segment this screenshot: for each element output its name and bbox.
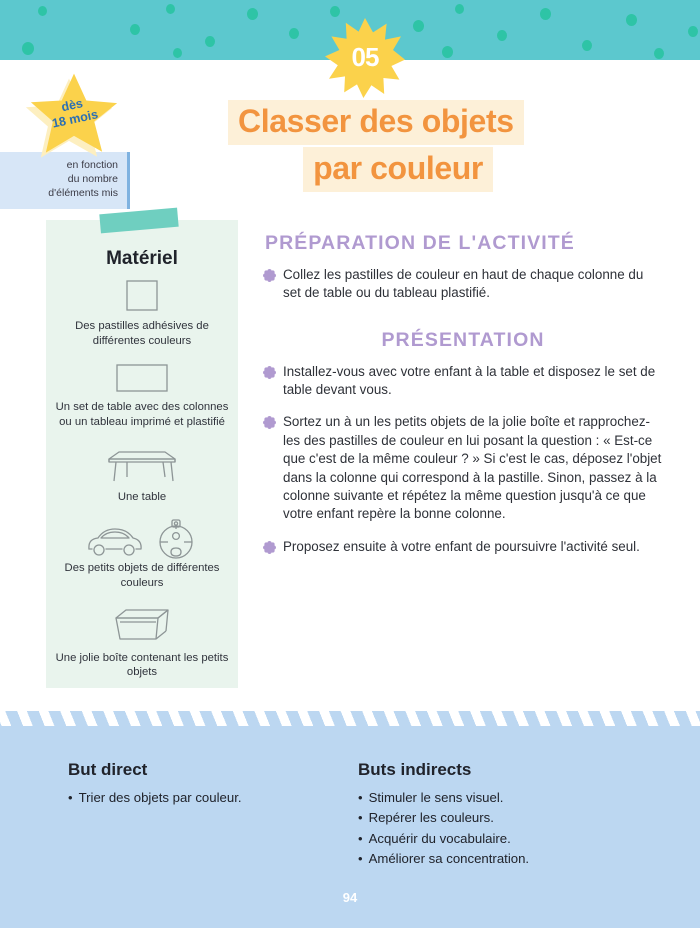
presentation-heading: PRÉSENTATION — [263, 329, 663, 352]
age-badge-line2: 18 mois — [51, 107, 99, 130]
activity-page: 05 dès 18 mois en fonction du nombre d'é… — [0, 0, 700, 928]
decorative-dot — [289, 28, 299, 39]
activity-content: PRÉPARATION DE L'ACTIVITÉ Collez les pas… — [263, 232, 663, 570]
toy-car-and-ball-icon — [84, 517, 200, 561]
age-badge-star: dès 18 mois — [30, 72, 118, 156]
goals-section: But direct • Trier des objets par couleu… — [0, 732, 700, 928]
direct-goal-item: • Trier des objets par couleur. — [68, 788, 358, 808]
presentation-item-text: Proposez ensuite à votre enfant de pours… — [283, 538, 640, 556]
indirect-goal-item: • Acquérir du vocabulaire. — [358, 829, 658, 849]
activity-number: 05 — [325, 18, 405, 98]
material-item-label: Des pastilles adhésives de différentes c… — [46, 319, 238, 348]
page-title: Classer des objets par couleur — [228, 100, 568, 192]
title-line-2-wrap: par couleur — [228, 147, 568, 192]
indirect-goal-heading: Buts indirects — [358, 760, 658, 780]
flower-bullet-icon — [263, 366, 276, 379]
indirect-goal-item: • Repérer les couleurs. — [358, 808, 658, 828]
decorative-dot — [442, 46, 453, 58]
bullet-dot: • — [358, 808, 363, 828]
bullet-dot: • — [358, 788, 363, 808]
decorative-dot — [497, 30, 507, 41]
presentation-item: Sortez un à un les petits objets de la j… — [263, 413, 663, 523]
material-item-label: Une jolie boîte contenant les petits obj… — [46, 651, 238, 680]
decorative-dot — [330, 6, 340, 17]
material-item-label: Un set de table avec des colonnes ou un … — [46, 400, 238, 429]
indirect-goal-text: Stimuler le sens visuel. — [369, 788, 504, 808]
goals-columns: But direct • Trier des objets par couleu… — [0, 760, 700, 870]
age-condition-note: en fonction du nombre d'éléments mis — [0, 152, 130, 209]
age-badge-text: dès 18 mois — [22, 64, 126, 164]
presentation-item-text: Installez-vous avec votre enfant à la ta… — [283, 363, 663, 400]
flower-bullet-icon — [263, 416, 276, 429]
toy-car-icon — [84, 521, 146, 561]
flower-bullet-icon — [263, 541, 276, 554]
presentation-item: Proposez ensuite à votre enfant de pours… — [263, 538, 663, 556]
material-item-label: Une table — [110, 490, 174, 505]
placemat-icon — [111, 361, 173, 395]
table-icon — [103, 443, 181, 485]
indirect-goal-column: Buts indirects • Stimuler le sens visuel… — [358, 760, 658, 870]
material-list: Des pastilles adhésives de différentes c… — [46, 278, 238, 693]
direct-goal-heading: But direct — [68, 760, 358, 780]
bullet-dot: • — [358, 829, 363, 849]
indirect-goal-text: Repérer les couleurs. — [369, 808, 494, 828]
decorative-dot — [582, 40, 592, 51]
box-icon — [106, 604, 178, 646]
preparation-item-text: Collez les pastilles de couleur en haut … — [283, 266, 663, 303]
decorative-dot — [173, 48, 182, 58]
decorative-dot — [413, 20, 424, 32]
striped-divider — [0, 706, 700, 736]
indirect-goal-item: • Stimuler le sens visuel. — [358, 788, 658, 808]
material-heading: Matériel — [46, 248, 238, 270]
square-sticker-icon — [119, 278, 165, 314]
material-item: Des petits objets de différentes couleur… — [46, 517, 238, 590]
bullet-dot: • — [68, 788, 73, 808]
material-item: Un set de table avec des colonnes ou un … — [46, 361, 238, 429]
stripe-top-fill — [0, 706, 700, 711]
presentation-item-text: Sortez un à un les petits objets de la j… — [283, 413, 663, 523]
activity-number-starburst: 05 — [325, 18, 405, 98]
preparation-item: Collez les pastilles de couleur en haut … — [263, 266, 663, 303]
title-line-1-wrap: Classer des objets — [228, 100, 568, 145]
decorative-dot — [247, 8, 258, 20]
material-item-label: Des petits objets de différentes couleur… — [46, 561, 238, 590]
direct-goal-column: But direct • Trier des objets par couleu… — [68, 760, 358, 870]
decorative-dot — [688, 26, 698, 37]
indirect-goal-text: Acquérir du vocabulaire. — [369, 829, 511, 849]
decorative-dot — [626, 14, 637, 26]
title-line-1: Classer des objets — [228, 100, 524, 145]
note-line-2: du nombre — [8, 173, 118, 187]
decorative-dot — [130, 24, 140, 35]
preparation-heading: PRÉPARATION DE L'ACTIVITÉ — [265, 232, 663, 255]
note-line-3: d'éléments mis — [8, 187, 118, 201]
indirect-goal-text: Améliorer sa concentration. — [369, 849, 530, 869]
indirect-goal-item: • Améliorer sa concentration. — [358, 849, 658, 869]
presentation-item: Installez-vous avec votre enfant à la ta… — [263, 363, 663, 400]
decorative-dot — [654, 48, 664, 59]
decorative-dot — [166, 4, 175, 14]
title-line-2: par couleur — [303, 147, 493, 192]
material-item: Une table — [46, 443, 238, 505]
note-line-1: en fonction — [8, 159, 118, 173]
decorative-dot — [38, 6, 47, 16]
direct-goal-text: Trier des objets par couleur. — [79, 788, 242, 808]
decorative-dot — [22, 42, 34, 55]
decorative-dot — [205, 36, 215, 47]
flower-bullet-icon — [263, 269, 276, 282]
material-item: Des pastilles adhésives de différentes c… — [46, 278, 238, 348]
toy-ball-icon — [152, 517, 200, 561]
decorative-dot — [455, 4, 464, 14]
page-number: 94 — [0, 890, 700, 905]
material-item: Une jolie boîte contenant les petits obj… — [46, 604, 238, 680]
bullet-dot: • — [358, 849, 363, 869]
decorative-dot — [540, 8, 551, 20]
